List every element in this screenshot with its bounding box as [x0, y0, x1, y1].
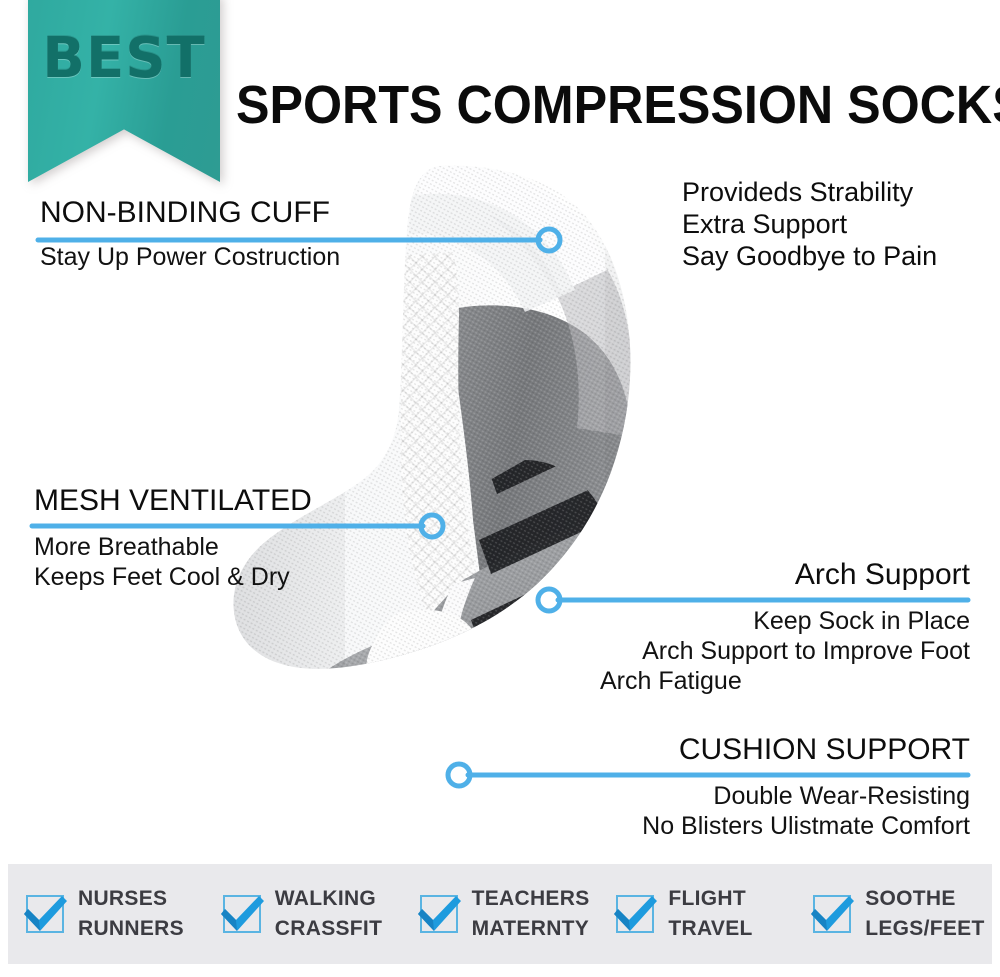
benefit-item: SOOTHE LEGS/FEET — [795, 884, 992, 944]
check-icon — [412, 887, 466, 941]
benefit-line-2: RUNNERS — [78, 914, 184, 944]
callout-heading: NON-BINDING CUFF — [40, 196, 540, 230]
callout-line-2: Arch Support to Improve Foot — [470, 636, 970, 666]
best-ribbon-badge: BEST — [28, 0, 220, 182]
callout-line-1: Keep Sock in Place — [470, 606, 970, 636]
benefit-line-2: TRAVEL — [668, 914, 752, 944]
benefit-labels: SOOTHE LEGS/FEET — [865, 884, 984, 944]
benefit-line-2: CRASSFIT — [275, 914, 382, 944]
page-title: SPORTS COMPRESSION SOCKS — [236, 76, 1000, 134]
check-icon — [608, 887, 662, 941]
callout-arch-support: Arch Support Keep Sock in Place Arch Sup… — [470, 558, 970, 696]
callout-line-3: Say Goodbye to Pain — [682, 240, 937, 272]
callout-line-3: Arch Fatigue — [470, 666, 970, 696]
benefit-line-2: LEGS/FEET — [865, 914, 984, 944]
checkbox-checked-icon[interactable] — [219, 891, 265, 937]
callout-line-1: Double Wear-Resisting — [450, 781, 970, 811]
benefit-line-1: NURSES — [78, 884, 184, 914]
benefit-line-1: FLIGHT — [668, 884, 752, 914]
benefit-labels: NURSES RUNNERS — [78, 884, 184, 944]
callout-heading: Arch Support — [470, 558, 970, 592]
benefit-item: NURSES RUNNERS — [8, 884, 205, 944]
check-icon — [215, 887, 269, 941]
callout-line-2: No Blisters Ulistmate Comfort — [450, 811, 970, 841]
benefit-labels: TEACHERS MATERNTY — [472, 884, 590, 944]
benefit-line-1: WALKING — [275, 884, 382, 914]
callout-line-1: Provideds Strability — [682, 176, 937, 208]
callout-mesh-ventilated: MESH VENTILATED More Breathable Keeps Fe… — [34, 484, 454, 592]
infographic-page: BEST SPORTS COMPRESSION SOCKS — [0, 0, 1000, 977]
callout-line-1: Stay Up Power Costruction — [40, 242, 540, 272]
benefit-item: FLIGHT TRAVEL — [598, 884, 795, 944]
callout-line-1: More Breathable — [34, 532, 454, 562]
benefit-labels: FLIGHT TRAVEL — [668, 884, 752, 944]
ribbon-label: BEST — [28, 26, 220, 91]
benefit-line-2: MATERNTY — [472, 914, 590, 944]
benefit-item: WALKING CRASSFIT — [205, 884, 402, 944]
benefit-line-1: TEACHERS — [472, 884, 590, 914]
checkbox-checked-icon[interactable] — [809, 891, 855, 937]
callout-heading: CUSHION SUPPORT — [450, 733, 970, 767]
checkbox-checked-icon[interactable] — [612, 891, 658, 937]
checkbox-checked-icon[interactable] — [22, 891, 68, 937]
callout-heading: MESH VENTILATED — [34, 484, 454, 518]
callout-line-2: Keeps Feet Cool & Dry — [34, 562, 454, 592]
benefit-line-1: SOOTHE — [865, 884, 984, 914]
benefit-labels: WALKING CRASSFIT — [275, 884, 382, 944]
checkbox-checked-icon[interactable] — [416, 891, 462, 937]
check-icon — [18, 887, 72, 941]
callout-line-2: Extra Support — [682, 208, 937, 240]
callout-stability: Provideds Strability Extra Support Say G… — [682, 176, 937, 272]
benefits-strip: NURSES RUNNERS WALKING CRASSFIT — [8, 864, 992, 964]
benefit-item: TEACHERS MATERNTY — [402, 884, 599, 944]
check-icon — [805, 887, 859, 941]
callout-cushion-support: CUSHION SUPPORT Double Wear-Resisting No… — [450, 733, 970, 841]
callout-non-binding-cuff: NON-BINDING CUFF Stay Up Power Costructi… — [40, 196, 540, 272]
